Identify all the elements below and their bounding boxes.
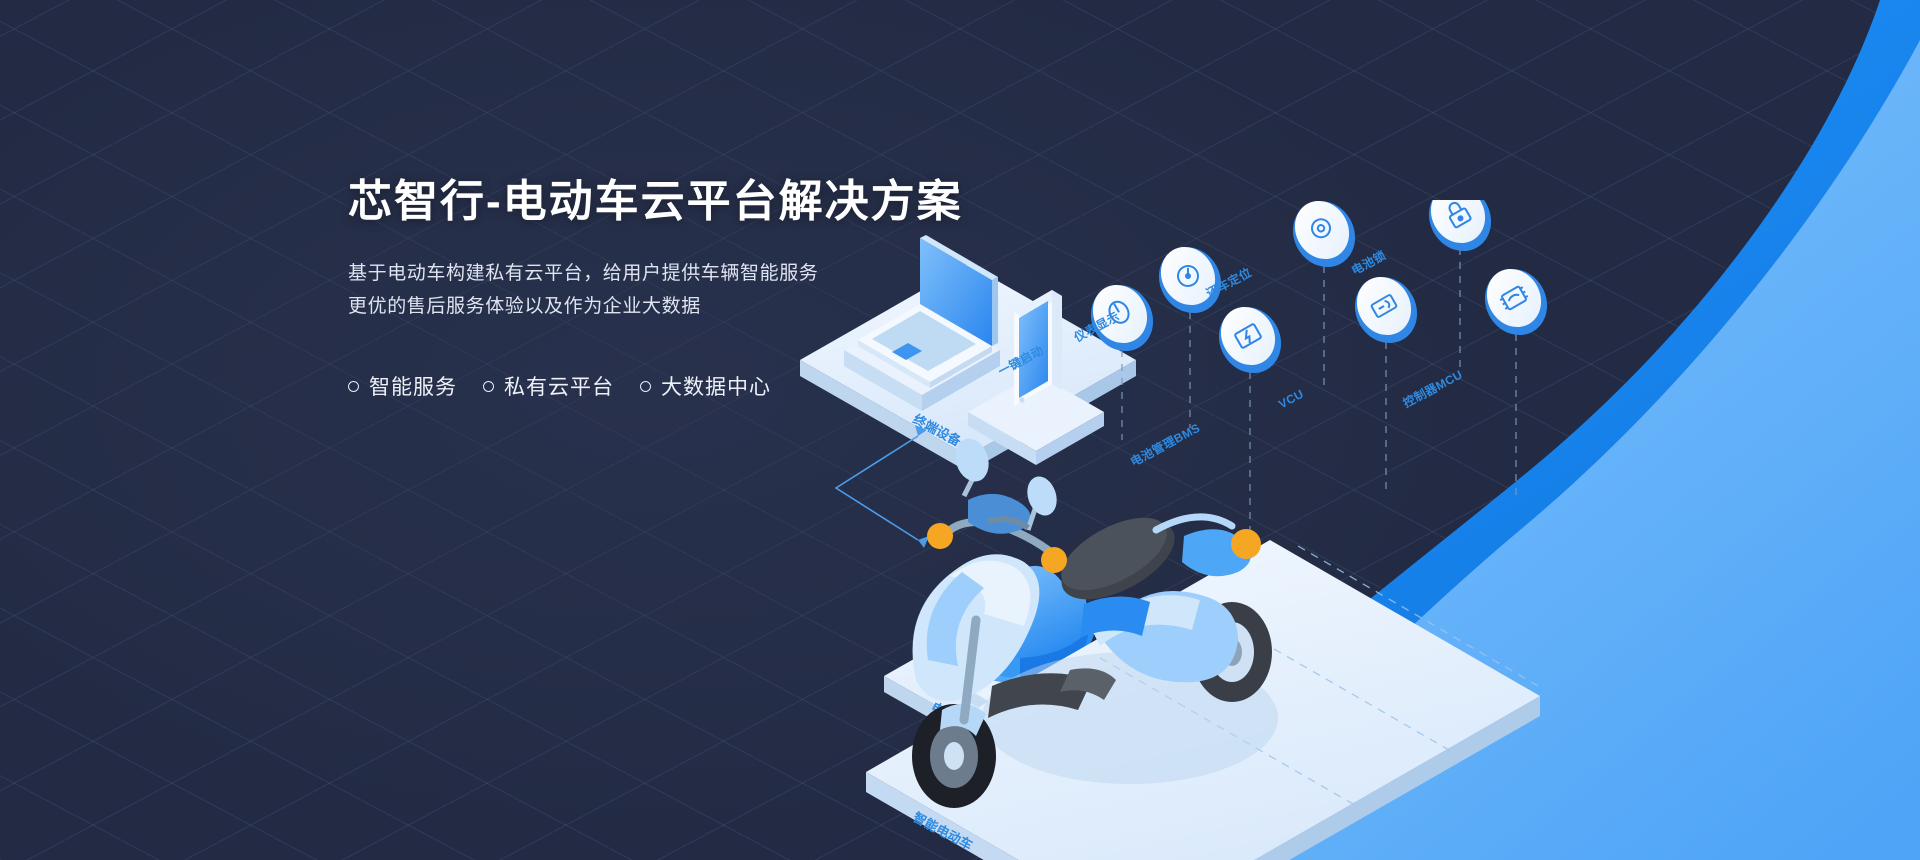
scooter-icon — [912, 434, 1278, 808]
badge-mcu-controller[interactable] — [1473, 258, 1559, 347]
platform-scooter: 智能电动车 — [866, 434, 1540, 860]
hero-banner: 芯智行-电动车云平台解决方案 基于电动车构建私有云平台，给用户提供车辆智能服务 … — [0, 0, 1920, 860]
feature-tag-label: 私有云平台 — [504, 371, 614, 401]
circle-outline-icon — [348, 381, 359, 392]
feature-tag-big-data[interactable]: 大数据中心 — [640, 371, 771, 401]
circle-outline-icon — [483, 381, 494, 392]
circle-outline-icon — [640, 381, 651, 392]
badge-return-location[interactable] — [1281, 200, 1367, 278]
feature-tag-smart-service[interactable]: 智能服务 — [348, 371, 457, 401]
platform-terminal-device: 终端设备 — [800, 235, 1136, 472]
isometric-illustration: 终端设备 电动车云平台 — [800, 200, 1920, 860]
feature-tag-private-cloud[interactable]: 私有云平台 — [483, 371, 614, 401]
feature-tag-label: 大数据中心 — [661, 371, 771, 401]
badge-vcu[interactable] — [1343, 266, 1429, 355]
bidirectional-arrow — [836, 425, 929, 548]
badge-battery-management[interactable] — [1207, 296, 1293, 385]
feature-tag-label: 智能服务 — [369, 371, 457, 401]
badge-dashboard-display[interactable] — [1147, 236, 1233, 325]
